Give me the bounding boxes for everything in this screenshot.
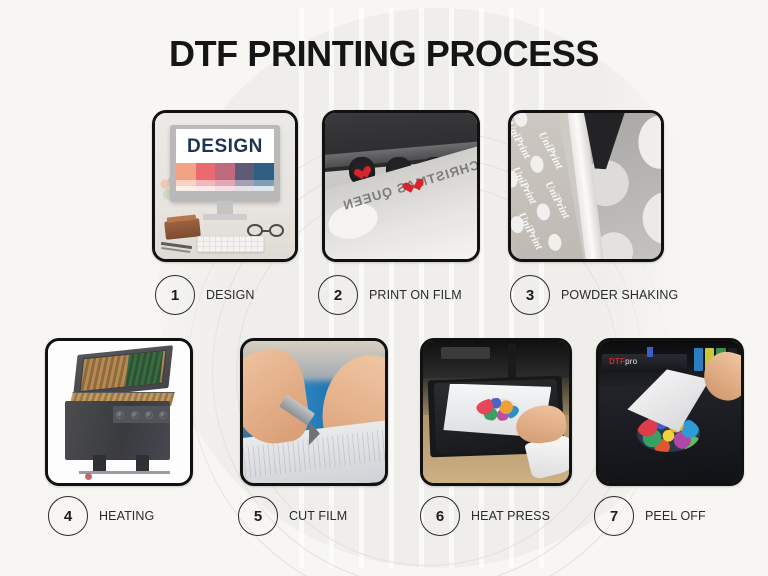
step-image-heating[interactable] [45,338,193,486]
colorful-design [476,398,520,421]
step-caption-6: 6 HEAT PRESS [420,496,550,536]
step-label: CUT FILM [289,509,347,523]
step-number-badge: 4 [48,496,88,536]
peel-off-photo: DTFpro [599,341,741,483]
step-number-badge: 3 [510,275,550,315]
step-caption-1: 1 DESIGN [155,275,255,315]
monitor: DESIGN [170,125,279,202]
step-caption-5: 5 CUT FILM [238,496,347,536]
step-caption-3: 3 POWDER SHAKING [510,275,678,315]
step-number-badge: 2 [318,275,358,315]
keyboard [197,236,264,252]
infographic-canvas: DTF PRINTING PROCESS DESIGN [0,0,768,576]
step-image-powder-shaking[interactable]: UniPrint UniPrint UniPrint UniPrint UniP… [508,110,664,262]
step-label: PEEL OFF [645,509,706,523]
heat-press-photo [423,341,569,483]
heart-graphic [404,174,420,189]
step-label: POWDER SHAKING [561,288,678,302]
press-post [508,344,517,378]
fan-knob-panel [113,406,170,423]
equipment-logo: DTFpro [609,357,637,366]
step-caption-2: 2 PRINT ON FILM [318,275,462,315]
step-image-design[interactable]: DESIGN [152,110,298,262]
press-arm [441,347,491,360]
fan-knob [116,411,124,419]
base-rail [79,471,170,474]
step-label: HEAT PRESS [471,509,550,523]
step-caption-7: 7 PEEL OFF [594,496,706,536]
fan-knob [159,411,167,419]
step-caption-4: 4 HEATING [48,496,154,536]
printer-film-photo: CHRISTMAS QUEEN [325,113,477,259]
monitor-stand [217,201,234,216]
powder-shaking-photo: UniPrint UniPrint UniPrint UniPrint UniP… [511,113,661,259]
screen-design-text: DESIGN [176,132,274,162]
notebook [164,218,201,239]
color-palette [176,163,274,191]
equipment-logo-suffix: pro [625,357,637,366]
monitor-base [203,214,248,220]
monitor-screen: DESIGN [176,129,274,191]
equipment-logo-mark: DTF [609,357,625,366]
fan-knob [145,411,153,419]
page-title: DTF PRINTING PROCESS [0,33,768,75]
step-image-cut-film[interactable] [240,338,388,486]
left-hand [243,345,312,448]
fan-knob [131,411,139,419]
design-desk-photo: DESIGN [155,113,295,259]
cut-film-photo [243,341,385,483]
step-number-badge: 5 [238,496,278,536]
step-number-badge: 6 [420,496,460,536]
step-label: DESIGN [206,288,255,302]
step-number-badge: 1 [155,275,195,315]
indicator-light [647,347,653,357]
step-image-print-on-film[interactable]: CHRISTMAS QUEEN [322,110,480,262]
heating-machine-photo [48,341,190,483]
step-image-peel-off[interactable]: DTFpro [596,338,744,486]
step-label: PRINT ON FILM [369,288,462,302]
step-number-badge: 7 [594,496,634,536]
step-label: HEATING [99,509,154,523]
base-wheel [85,473,92,480]
step-image-heat-press[interactable] [420,338,572,486]
